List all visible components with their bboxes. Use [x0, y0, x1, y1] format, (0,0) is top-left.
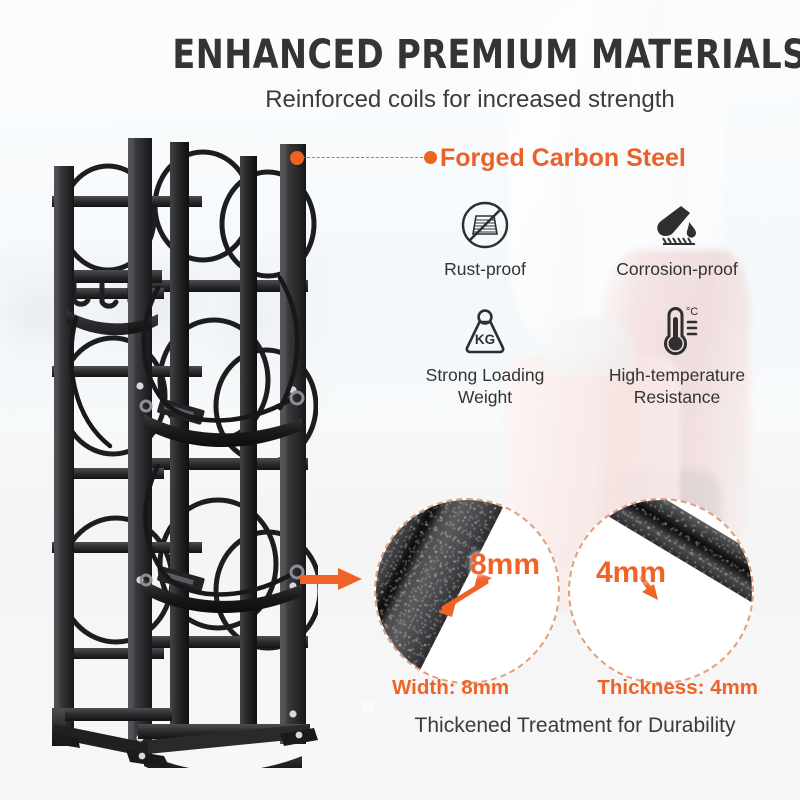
feature-label: Strong Loading Weight — [390, 364, 580, 409]
magnified-width-circle — [374, 498, 560, 684]
width-dimension-label: 8mm — [470, 548, 540, 582]
feature-high-temperature-resistance: °C High-temperature Resistance — [582, 302, 772, 409]
width-caption: Width: 8mm — [392, 676, 509, 700]
thermometer-icon: °C — [582, 302, 772, 360]
marketing-banner: ENHANCED PREMIUM MATERIALS Reinforced co… — [0, 0, 800, 800]
thickness-caption: Thickness: 4mm — [597, 676, 758, 700]
callout-leader-line — [302, 157, 428, 158]
rust-proof-icon — [390, 196, 580, 254]
page-title: ENHANCED PREMIUM MATERIALS — [172, 32, 767, 78]
feature-grid: Rust-proof — [390, 196, 780, 426]
thickness-dimension-label: 4mm — [596, 556, 666, 590]
feature-strong-loading-weight: KG Strong Loading Weight — [390, 302, 580, 409]
magnified-thickness-circle — [568, 498, 754, 684]
right-arrow-icon — [300, 570, 362, 588]
bottom-caption: Thickened Treatment for Durability — [370, 714, 780, 738]
celsius-unit-text: °C — [686, 306, 698, 318]
width-measure-arrow — [376, 500, 560, 684]
feature-label: Rust-proof — [390, 258, 580, 280]
callout-label: Forged Carbon Steel — [440, 144, 686, 173]
feature-rust-proof: Rust-proof — [390, 196, 580, 280]
weight-kg-icon: KG — [390, 302, 580, 360]
corrosion-proof-icon — [582, 196, 772, 254]
gas-cylinder-rack-image — [18, 128, 318, 768]
feature-label: High-temperature Resistance — [582, 364, 772, 409]
callout-anchor-dot — [290, 151, 304, 165]
kg-badge-text: KG — [475, 332, 495, 347]
feature-corrosion-proof: Corrosion-proof — [582, 196, 772, 280]
measurement-captions: Width: 8mm Thickness: 4mm — [370, 676, 780, 700]
feature-label: Corrosion-proof — [582, 258, 772, 280]
thickness-measure-arrow — [570, 500, 754, 684]
page-subtitle: Reinforced coils for increased strength — [150, 86, 790, 114]
callout-label-dot — [424, 151, 437, 164]
